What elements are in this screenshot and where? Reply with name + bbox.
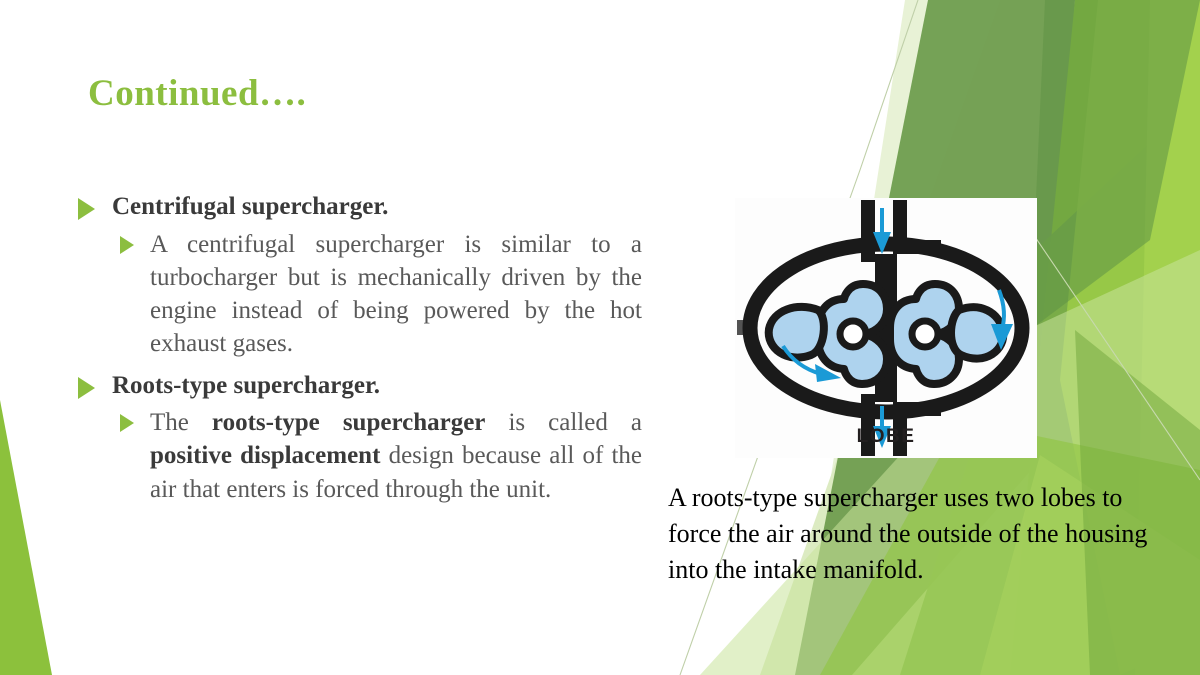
rotor-left-hub — [840, 321, 866, 347]
figure-label-lobe: LOBE — [735, 426, 1037, 448]
bullet-text: Roots-type supercharger. — [112, 372, 380, 399]
deco-hairline-2 — [1010, 200, 1200, 480]
bullet-list: Centrifugal supercharger. A centrifugal … — [72, 192, 642, 516]
figure-caption: A roots-type supercharger uses two lobes… — [668, 480, 1160, 588]
deco-dark-1 — [1030, 0, 1200, 330]
slide: Continued…. Centrifugal supercharger. A … — [0, 0, 1200, 675]
triangle-right-icon — [120, 414, 134, 432]
bullet-text-rich: The roots-type supercharger is called a … — [150, 409, 642, 503]
bullet-text: A centrifugal supercharger is similar to… — [150, 231, 642, 358]
bullet-level1-centrifugal: Centrifugal supercharger. — [72, 192, 642, 222]
triangle-right-icon — [120, 236, 134, 254]
roots-supercharger-svg — [735, 198, 1037, 458]
triangle-right-icon — [78, 377, 95, 399]
rotor-right-hub — [912, 321, 938, 347]
bullet-text: Centrifugal supercharger. — [112, 193, 388, 220]
housing-side-stub — [737, 320, 755, 335]
bullet-level2-centrifugal-desc: A centrifugal supercharger is similar to… — [72, 228, 642, 361]
triangle-right-icon — [78, 198, 95, 220]
bullet-level2-roots-desc: The roots-type supercharger is called a … — [72, 406, 642, 506]
bullet-level1-roots: Roots-type supercharger. — [72, 371, 642, 401]
page-title: Continued…. — [88, 72, 306, 115]
rotor-left-outer-lobe — [769, 307, 824, 358]
figure-roots-supercharger: LOBE — [735, 198, 1037, 458]
deco-corner-wedge — [0, 400, 52, 675]
